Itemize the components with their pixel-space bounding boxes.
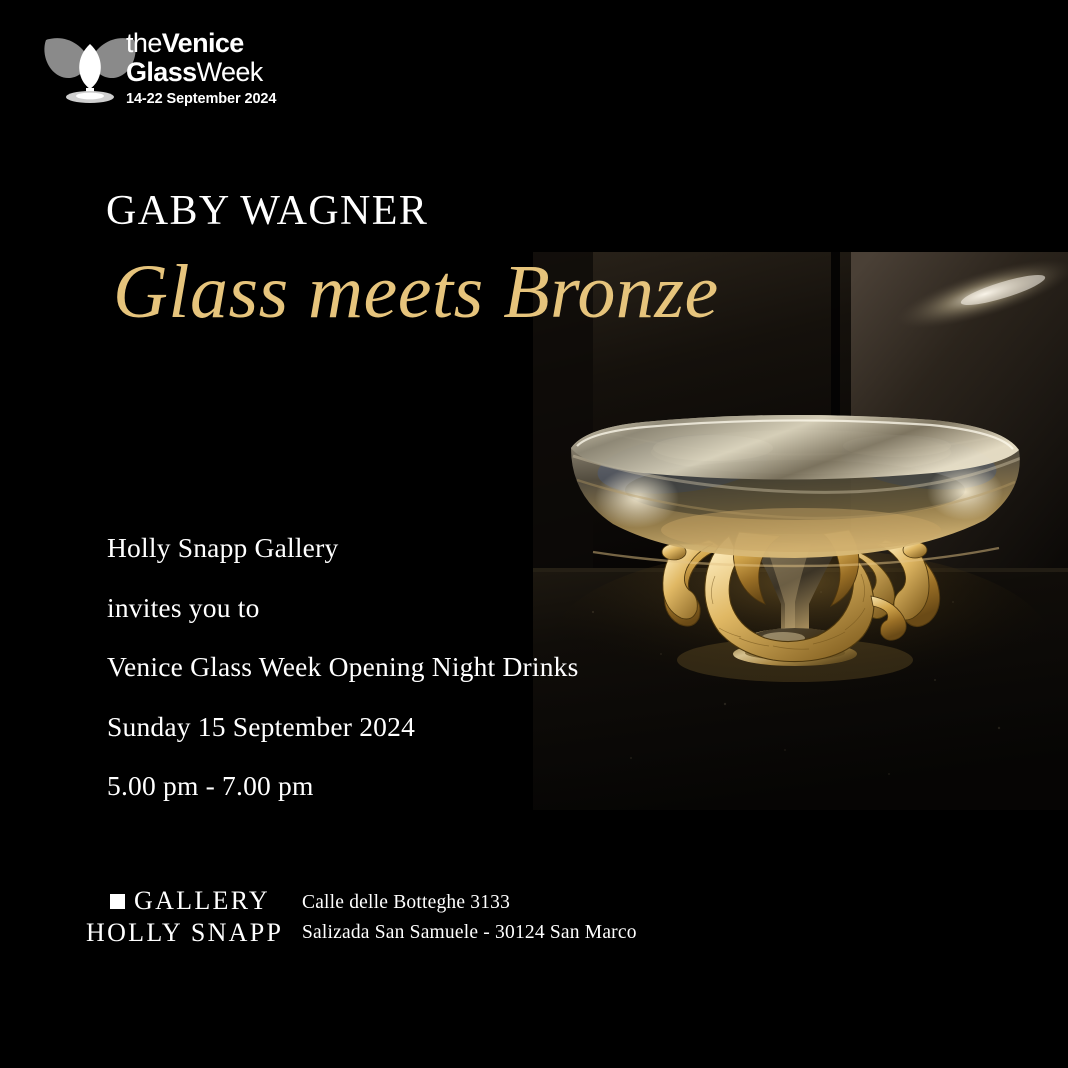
- exhibition-title: Glass meets Bronze: [113, 249, 719, 335]
- wordmark-week: Week: [197, 57, 263, 87]
- venice-glass-week-wordmark: theVenice GlassWeek 14-22 September 2024: [126, 29, 306, 107]
- wordmark-glass: Glass: [126, 57, 197, 87]
- holly-snapp-gallery-logo: GALLERY HOLLY SNAPP: [86, 884, 270, 948]
- festival-dates: 14-22 September 2024: [126, 91, 306, 107]
- address-line: Salizada San Samuele - 30124 San Marco: [302, 918, 637, 948]
- gallery-name: HOLLY SNAPP: [86, 918, 270, 948]
- gallery-logo-line-1: GALLERY: [86, 886, 270, 916]
- gallery-word: GALLERY: [134, 886, 270, 916]
- wordmark-line-1: theVenice: [126, 29, 306, 58]
- artwork-photo-illustration: [533, 252, 1068, 810]
- venice-glass-week-goblet-mark: [42, 27, 138, 109]
- invitation-line: 5.00 pm - 7.00 pm: [107, 756, 579, 816]
- footer: GALLERY HOLLY SNAPP Calle delle Botteghe…: [86, 884, 637, 948]
- invitation-text-block: Holly Snapp Gallery invites you to Venic…: [107, 518, 579, 816]
- invitation-line: invites you to: [107, 578, 579, 638]
- wordmark-the: the: [126, 28, 162, 58]
- artwork-photo: [533, 252, 1068, 810]
- square-bullet-icon: [110, 894, 125, 909]
- bowl-rim: [571, 415, 1019, 480]
- wordmark-venice: Venice: [162, 28, 244, 58]
- address-line: Calle delle Botteghe 3133: [302, 888, 637, 918]
- wordmark-line-2: GlassWeek: [126, 58, 306, 87]
- invitation-poster: theVenice GlassWeek 14-22 September 2024…: [0, 0, 1068, 1068]
- venice-glass-week-logo: theVenice GlassWeek 14-22 September 2024: [42, 27, 302, 113]
- invitation-line: Sunday 15 September 2024: [107, 697, 579, 757]
- gallery-address: Calle delle Botteghe 3133 Salizada San S…: [302, 884, 637, 948]
- artist-name: GABY WAGNER: [106, 188, 428, 234]
- invitation-line: Venice Glass Week Opening Night Drinks: [107, 637, 579, 697]
- invitation-line: Holly Snapp Gallery: [107, 518, 579, 578]
